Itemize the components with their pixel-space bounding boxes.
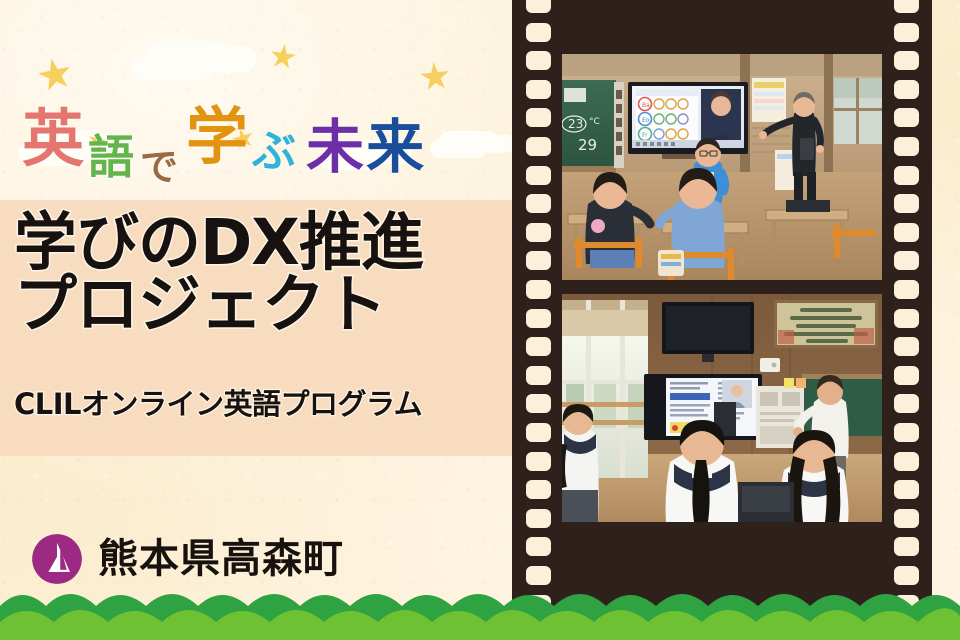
film-perforation bbox=[526, 108, 551, 127]
film-perforation bbox=[894, 309, 919, 328]
film-perforation bbox=[894, 480, 919, 499]
film-perforation bbox=[526, 280, 551, 299]
svg-text:29: 29 bbox=[578, 136, 597, 154]
kanji-char-1: 英 bbox=[22, 108, 84, 170]
film-perforation bbox=[526, 23, 551, 42]
film-perforation bbox=[894, 280, 919, 299]
kanji-headline: 英 語 で 学 ぶ 未 来 bbox=[22, 92, 492, 170]
film-perforation bbox=[894, 452, 919, 471]
film-perforation bbox=[894, 394, 919, 413]
film-perforation bbox=[526, 337, 551, 356]
page-title: 学びのDX推進 プロジェクト bbox=[14, 212, 514, 335]
star-decoration bbox=[419, 61, 452, 94]
film-perforation bbox=[894, 423, 919, 442]
film-perforation bbox=[526, 0, 551, 13]
svg-text:23: 23 bbox=[568, 117, 583, 131]
photo-junior-high-classroom bbox=[562, 294, 882, 522]
page-subtitle: CLILオンライン英語プログラム bbox=[14, 390, 514, 419]
kanji-char-4: 学 bbox=[186, 106, 248, 168]
grass-decoration bbox=[0, 576, 960, 640]
film-perforation bbox=[526, 166, 551, 185]
kanji-char-5: ぶ bbox=[252, 130, 296, 174]
svg-text:°C: °C bbox=[589, 117, 600, 127]
page-title-line-2: プロジェクト bbox=[14, 274, 514, 336]
film-perforation bbox=[526, 51, 551, 70]
page-title-line-1: 学びのDX推進 bbox=[14, 212, 514, 274]
film-perforation bbox=[526, 251, 551, 270]
film-perforation bbox=[526, 509, 551, 528]
film-perforation bbox=[894, 23, 919, 42]
film-perforation bbox=[894, 251, 919, 270]
film-perforations-left bbox=[516, 0, 560, 640]
film-perforation bbox=[526, 537, 551, 556]
film-perforation bbox=[526, 80, 551, 99]
film-perforation bbox=[526, 309, 551, 328]
kanji-char-6: 未 bbox=[306, 118, 364, 176]
film-perforation bbox=[894, 194, 919, 213]
star-decoration bbox=[268, 42, 297, 71]
kanji-char-2: 語 bbox=[88, 134, 134, 180]
film-perforation bbox=[894, 509, 919, 528]
film-perforation bbox=[526, 194, 551, 213]
film-strip: 23 °C 29 Ba bbox=[512, 0, 932, 640]
film-perforation bbox=[894, 137, 919, 156]
film-perforation bbox=[894, 51, 919, 70]
film-perforation bbox=[894, 366, 919, 385]
film-perforation bbox=[526, 394, 551, 413]
svg-text:Fr: Fr bbox=[642, 132, 648, 139]
star-decoration bbox=[35, 55, 75, 95]
film-perforations-right bbox=[884, 0, 928, 640]
film-perforation bbox=[526, 423, 551, 442]
film-perforation bbox=[894, 337, 919, 356]
film-perforation bbox=[894, 80, 919, 99]
poster-root: 英 語 で 学 ぶ 未 来 学びのDX推進 プロジェクト CLILオンライン英語… bbox=[0, 0, 960, 640]
film-perforation bbox=[526, 137, 551, 156]
film-perforation bbox=[894, 0, 919, 13]
svg-text:Eo: Eo bbox=[642, 117, 650, 124]
photo-elementary-classroom: 23 °C 29 Ba bbox=[562, 54, 882, 280]
cloud-decoration bbox=[132, 54, 214, 80]
town-name-label: 熊本県高森町 bbox=[98, 539, 344, 579]
film-perforation bbox=[894, 223, 919, 242]
film-perforation bbox=[894, 537, 919, 556]
film-perforation bbox=[526, 452, 551, 471]
film-perforation bbox=[526, 223, 551, 242]
svg-text:Ba: Ba bbox=[642, 102, 650, 109]
film-perforation bbox=[526, 366, 551, 385]
kanji-char-7: 来 bbox=[366, 118, 424, 176]
kanji-char-3: で bbox=[140, 148, 178, 186]
film-perforation bbox=[894, 166, 919, 185]
film-perforation bbox=[894, 108, 919, 127]
film-perforation bbox=[526, 480, 551, 499]
